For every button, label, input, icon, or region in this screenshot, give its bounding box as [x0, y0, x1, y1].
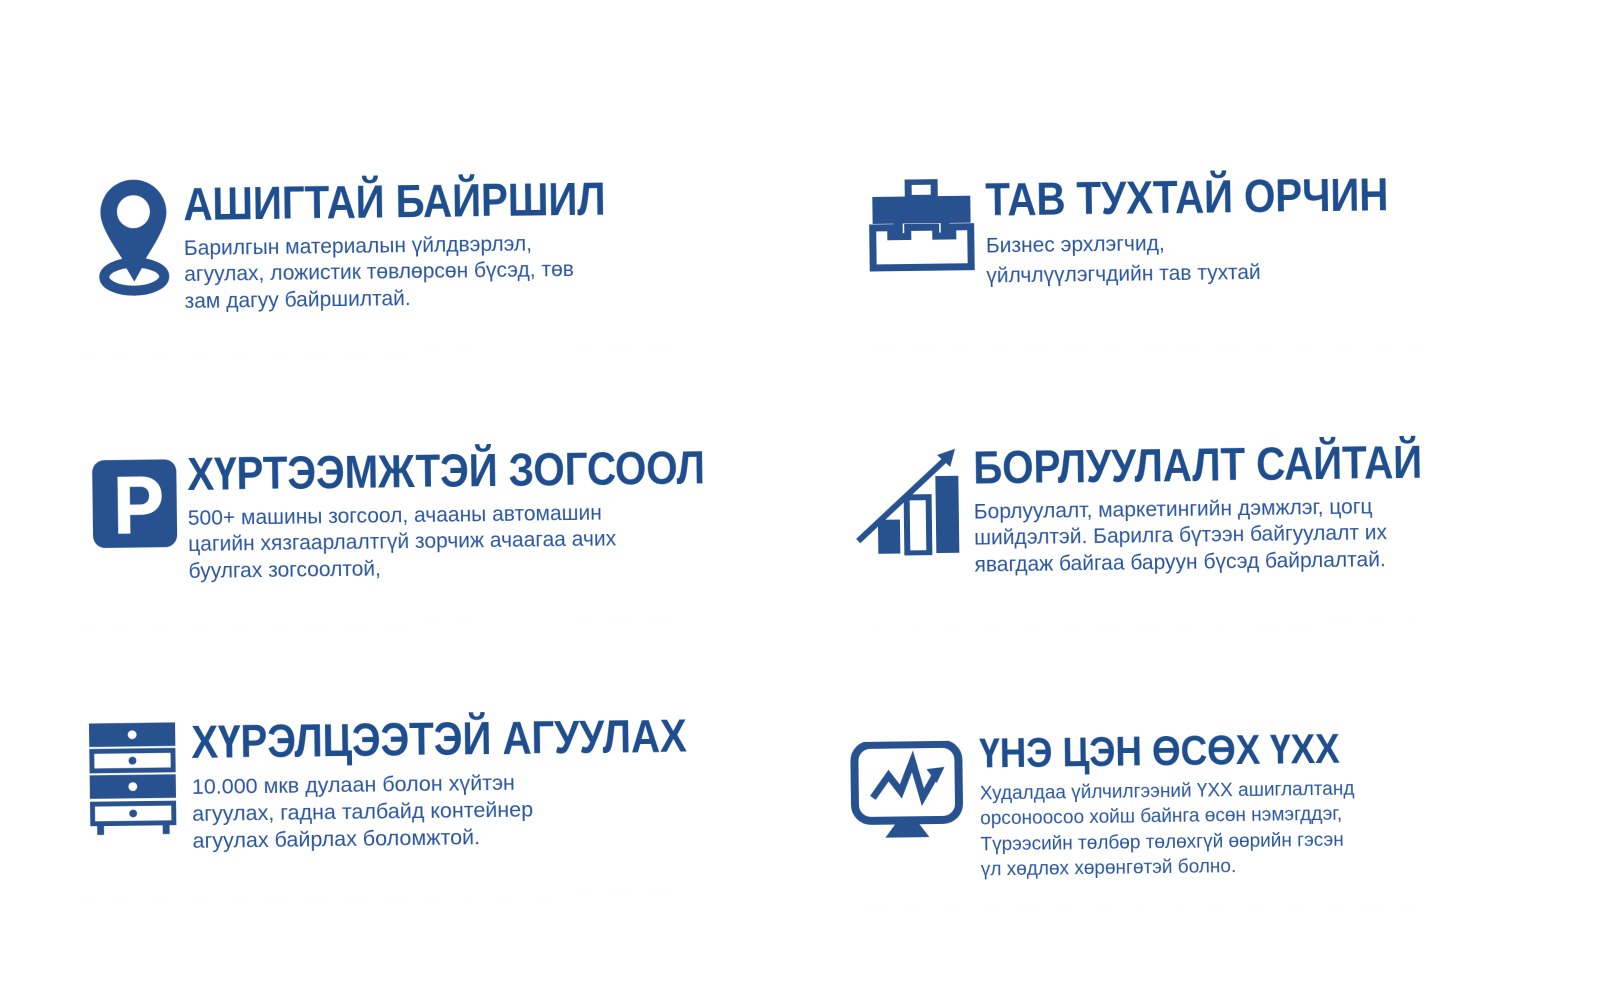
card-text-parking: ХҮРТЭЭМЖТЭЙ ЗОГСООЛ 500+ машины зогсоол,…: [177, 423, 767, 585]
feature-card-environment[interactable]: ТАВ ТУХТАЙ ОРЧИН Бизнес эрхлэгчид, үйлчл…: [851, 148, 1502, 352]
card-title-parking: ХҮРТЭЭМЖТЭЙ ЗОГСООЛ: [187, 444, 687, 497]
card-body-parking: 500+ машины зогсоол, ачааны автомашин ца…: [188, 499, 757, 586]
card-title-warehouse: ХҮРЭЛЦЭЭТЭЙ АГУУЛАХ: [191, 712, 688, 764]
growth-chart-icon: [851, 443, 964, 556]
map-pin-icon: [95, 177, 173, 296]
card-text-sales: БОРЛУУЛАЛТ САЙТАЙ Борлуулалт, маркетинги…: [967, 420, 1501, 579]
card-title-location: АШИГТАЙ БАЙРШИЛ: [183, 174, 687, 227]
feature-card-warehouse[interactable]: ХҮРЭЛЦЭЭТЭЙ АГУУЛАХ 10.000 мкв дулаан бо…: [65, 693, 768, 902]
card-title-value: ҮНЭ ЦЭН ӨСӨХ ҮХХ: [979, 727, 1430, 775]
drawer-cabinet-icon-wrap: [65, 701, 179, 840]
infographic-board: АШИГТАЙ БАЙРШИЛ Барилгын материалын үйлд…: [0, 0, 1600, 1008]
feature-card-value[interactable]: ҮНЭ ЦЭН ӨСӨХ ҮХХ Худалдаа үйлчилгээний Ү…: [829, 696, 1504, 913]
card-body-sales: Борлуулалт, маркетингийн дэмжлэг, цогц ш…: [974, 493, 1491, 579]
toolbox-icon: [868, 179, 975, 272]
card-text-value: ҮНЭ ЦЭН ӨСӨХ ҮХХ Худалдаа үйлчилгээний Ү…: [969, 696, 1503, 884]
card-title-sales: БОРЛУУЛАЛТ САЙТАЙ: [973, 439, 1428, 491]
monitor-growth-icon: [850, 741, 963, 844]
feature-card-parking[interactable]: ХҮРТЭЭМЖТЭЙ ЗОГСООЛ 500+ машины зогсоол,…: [65, 423, 768, 628]
map-pin-icon-wrap: [65, 159, 175, 296]
parking-sign-icon-wrap: [65, 431, 179, 552]
card-text-location: АШИГТАЙ БАЙРШИЛ Барилгын материалын үйлд…: [173, 151, 767, 315]
card-body-environment: Бизнес эрхлэгчид, үйлчлүүлэгчдийн тав ту…: [986, 225, 1491, 292]
card-body-value: Худалдаа үйлчилгээний ҮХХ ашиглалтанд ор…: [980, 775, 1493, 884]
card-text-warehouse: ХҮРЭЛЦЭЭТЭЙ АГУУЛАХ 10.000 мкв дулаан бо…: [177, 693, 767, 855]
monitor-growth-icon-wrap: [829, 703, 971, 845]
toolbox-icon-wrap: [851, 155, 983, 273]
drawer-cabinet-icon: [87, 719, 179, 840]
feature-card-location[interactable]: АШИГТАЙ БАЙРШИЛ Барилгын материалын үйлд…: [65, 151, 768, 356]
card-body-location: Барилгын материалын үйлдвэрлэл, агуулах,…: [184, 229, 757, 316]
card-text-environment: ТАВ ТУХТАЙ ОРЧИН Бизнес эрхлэгчид, үйлчл…: [981, 148, 1501, 293]
parking-sign-icon: [91, 455, 178, 552]
growth-chart-icon-wrap: [839, 427, 969, 557]
feature-card-sales[interactable]: БОРЛУУЛАЛТ САЙТАЙ Борлуулалт, маркетинги…: [839, 420, 1502, 631]
card-title-environment: ТАВ ТУХТАЙ ОРЧИН: [985, 171, 1429, 223]
card-body-warehouse: 10.000 мкв дулаан болон хүйтэн агуулах, …: [192, 767, 757, 856]
